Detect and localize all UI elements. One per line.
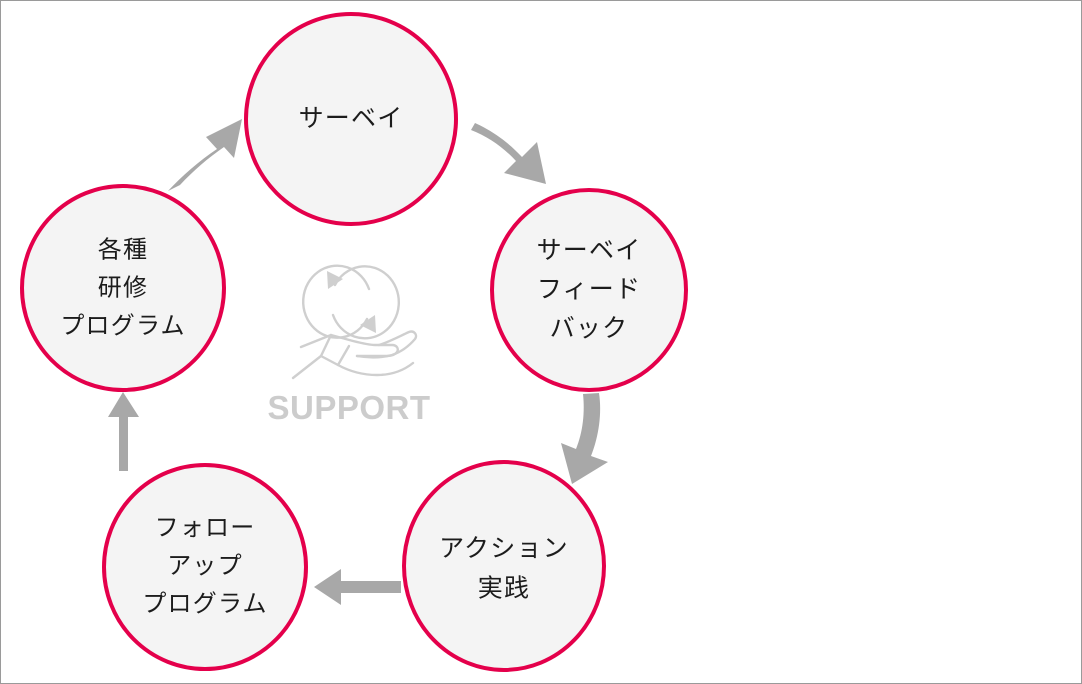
node-survey-label-line-1: サーベイ (299, 105, 404, 133)
node-survey-feedback-label-line-3: バック (550, 315, 629, 343)
arrow-feedback-to-action (561, 393, 608, 484)
node-follow-up-program-label-line-1: フォロー (155, 514, 256, 541)
arrow-followup-to-training (108, 392, 139, 471)
node-action-practice-label-line-1: アクション (439, 535, 569, 563)
node-training-program-label-line-2: 研修 (98, 274, 148, 301)
node-survey-feedback-label-line-1: サーベイ (537, 237, 642, 265)
open-hand-icon (293, 332, 416, 378)
support-label: SUPPORT (267, 389, 430, 426)
node-follow-up-program[interactable]: フォロー アップ プログラム (104, 465, 306, 669)
node-training-program-label-line-1: 各種 (98, 236, 148, 263)
cycle-arrows-icon (303, 266, 399, 339)
node-action-practice-label-line-2: 実践 (478, 575, 530, 603)
node-follow-up-program-label-line-3: プログラム (142, 590, 267, 617)
node-survey[interactable]: サーベイ (246, 14, 456, 224)
node-survey-feedback-label-line-2: フィード (537, 276, 641, 304)
support-center-group: SUPPORT (267, 266, 430, 426)
node-action-practice[interactable]: アクション 実践 (404, 462, 604, 670)
arrow-action-to-followup (314, 569, 401, 605)
node-training-program[interactable]: 各種 研修 プログラム (22, 186, 224, 390)
node-survey-feedback[interactable]: サーベイ フィード バック (492, 190, 686, 390)
node-training-program-label-line-3: プログラム (60, 312, 185, 339)
diagram-canvas: サーベイ サーベイ フィード バック アクション 実践 フォロー アップ プログ… (0, 0, 1082, 684)
cycle-diagram: サーベイ サーベイ フィード バック アクション 実践 フォロー アップ プログ… (1, 1, 1082, 684)
node-action-practice-circle[interactable] (404, 462, 604, 670)
node-follow-up-program-label-line-2: アップ (167, 552, 243, 579)
arrow-survey-to-feedback (471, 123, 546, 184)
arrow-training-to-survey (168, 119, 242, 191)
